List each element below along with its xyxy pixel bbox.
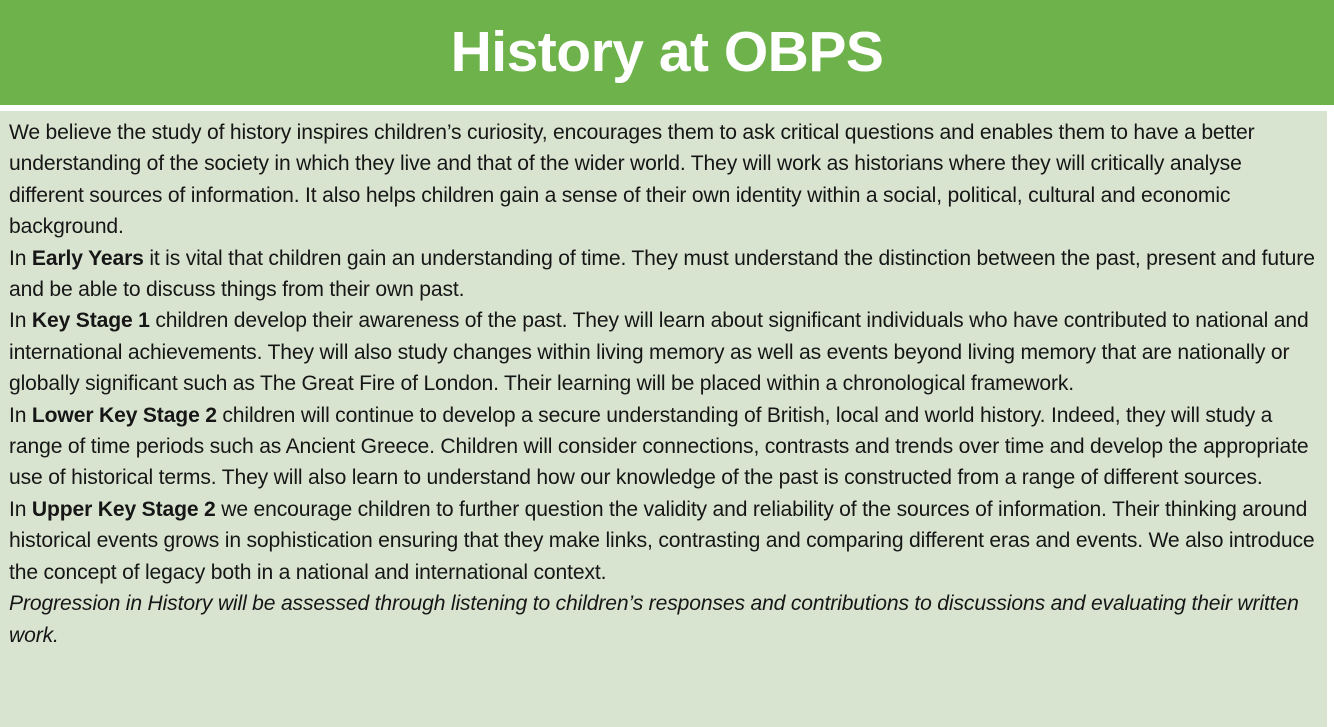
content-panel: We believe the study of history inspires… bbox=[0, 111, 1327, 727]
body-wrapper: We believe the study of history inspires… bbox=[0, 111, 1334, 727]
paragraph-key-stage-1-prefix: In bbox=[9, 309, 32, 332]
paragraph-key-stage-1: In Key Stage 1 children develop their aw… bbox=[9, 305, 1317, 399]
paragraph-upper-key-stage-2: In Upper Key Stage 2 we encourage childr… bbox=[9, 494, 1317, 588]
page-title: History at OBPS bbox=[451, 23, 884, 83]
paragraph-lower-key-stage-2-lead: Lower Key Stage 2 bbox=[32, 404, 217, 427]
paragraph-early-years-text: it is vital that children gain an unders… bbox=[9, 247, 1315, 301]
paragraph-upper-key-stage-2-lead: Upper Key Stage 2 bbox=[32, 498, 216, 521]
paragraph-key-stage-1-text: children develop their awareness of the … bbox=[9, 309, 1309, 395]
paragraph-lower-key-stage-2-prefix: In bbox=[9, 404, 32, 427]
history-poster: History at OBPS We believe the study of … bbox=[0, 0, 1334, 727]
paragraph-lower-key-stage-2: In Lower Key Stage 2 children will conti… bbox=[9, 400, 1317, 494]
paragraph-early-years-prefix: In bbox=[9, 247, 32, 270]
paragraph-early-years-lead: Early Years bbox=[32, 247, 144, 270]
paragraph-upper-key-stage-2-prefix: In bbox=[9, 498, 32, 521]
paragraph-assessment-text: Progression in History will be assessed … bbox=[9, 592, 1299, 646]
paragraph-early-years: In Early Years it is vital that children… bbox=[9, 243, 1317, 306]
paragraph-assessment: Progression in History will be assessed … bbox=[9, 588, 1317, 651]
paragraph-key-stage-1-lead: Key Stage 1 bbox=[32, 309, 150, 332]
paragraph-intro: We believe the study of history inspires… bbox=[9, 117, 1317, 243]
header-banner: History at OBPS bbox=[0, 0, 1334, 105]
paragraph-intro-text: We believe the study of history inspires… bbox=[9, 121, 1255, 238]
